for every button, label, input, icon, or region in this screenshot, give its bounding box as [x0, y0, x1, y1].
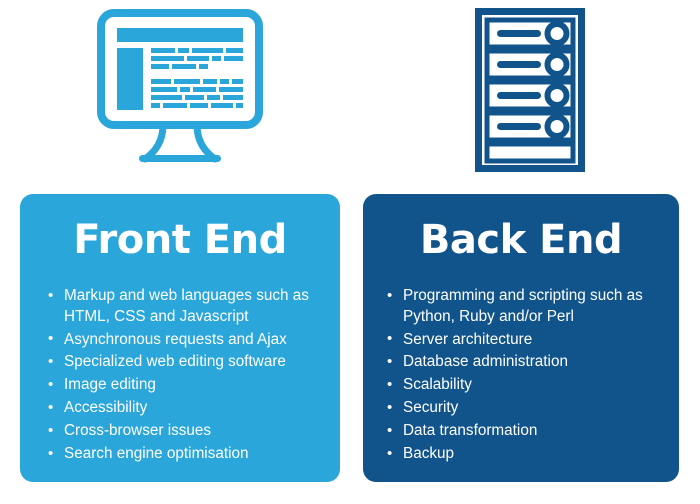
- server-rack-icon: [474, 7, 586, 173]
- column-back-end: Back End Programming and scripting such …: [360, 0, 700, 504]
- back-end-icon-area: [360, 0, 700, 194]
- list-item: Accessibility: [48, 398, 332, 419]
- list-item: Data transformation: [387, 421, 671, 442]
- list-item: Image editing: [48, 375, 332, 396]
- front-end-icon-area: [0, 0, 360, 194]
- list-item: Cross-browser issues: [48, 421, 332, 442]
- front-end-panel: Front End Markup and web languages such …: [20, 194, 340, 482]
- back-end-bullet-list: Programming and scripting such as Python…: [363, 260, 679, 465]
- list-item: Asynchronous requests and Ajax: [48, 330, 332, 351]
- list-item: Backup: [387, 444, 671, 465]
- list-item: Specialized web editing software: [48, 352, 332, 373]
- list-item: Scalability: [387, 375, 671, 396]
- list-item: Search engine optimisation: [48, 444, 332, 465]
- front-end-bullet-list: Markup and web languages such as HTML, C…: [20, 260, 340, 465]
- column-front-end: Front End Markup and web languages such …: [0, 0, 360, 504]
- list-item: Database administration: [387, 352, 671, 373]
- list-item: Security: [387, 398, 671, 419]
- infographic-root: Front End Markup and web languages such …: [0, 0, 700, 504]
- list-item: Markup and web languages such as HTML, C…: [48, 286, 332, 327]
- back-end-title: Back End: [363, 194, 679, 260]
- monitor-icon: [95, 7, 265, 167]
- list-item: Programming and scripting such as Python…: [387, 286, 671, 327]
- back-end-panel: Back End Programming and scripting such …: [363, 194, 679, 482]
- front-end-title: Front End: [20, 194, 340, 260]
- list-item: Server architecture: [387, 330, 671, 351]
